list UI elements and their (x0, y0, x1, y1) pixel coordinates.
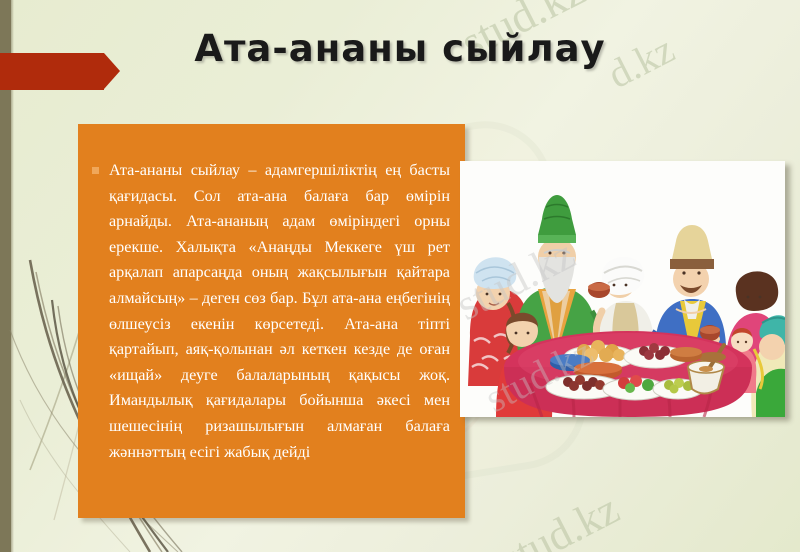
watermark-bottom: stud.kz (492, 483, 627, 552)
bullet-square-icon (92, 167, 99, 174)
content-panel-body: Ата-ананы сыйлау – адамгершіліктің ең ба… (92, 158, 450, 465)
content-panel: Ата-ананы сыйлау – адамгершіліктің ең ба… (78, 124, 465, 518)
illustration-card: т у ы м ж и р і н (460, 161, 785, 417)
list-item: Ата-ананы сыйлау – адамгершіліктің ең ба… (92, 158, 450, 465)
page-title: Ата-ананы сыйлау (0, 27, 800, 70)
food-small-bowl (670, 347, 702, 362)
family-at-table-illustration: stud.kz stud.kz (460, 161, 785, 417)
bullet-text: Ата-ананы сыйлау – адамгершіліктің ең ба… (109, 158, 450, 465)
slide-canvas: stud.kz - stud.kz d.kz stud.kz stud.kz А… (0, 0, 800, 552)
